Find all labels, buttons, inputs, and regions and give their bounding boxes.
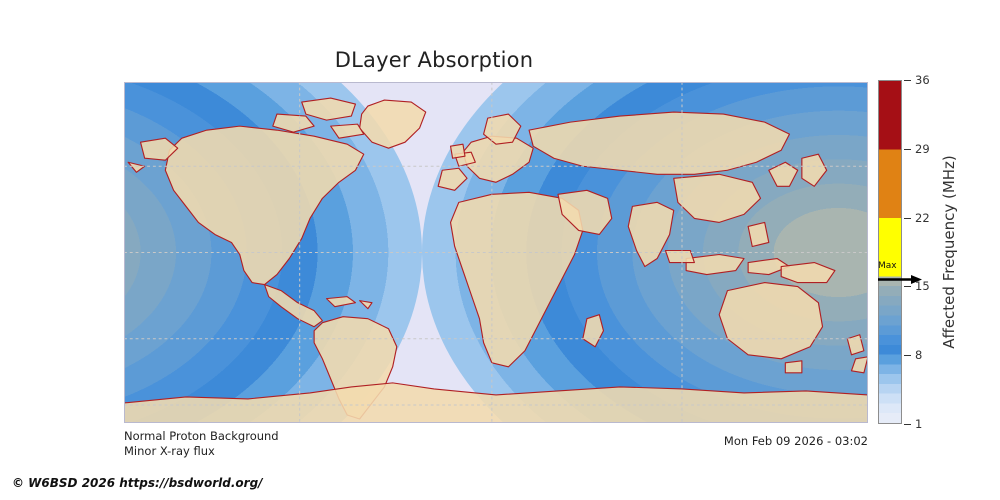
- page-title: DLayer Absorption: [0, 48, 868, 72]
- colorbar-tick-8: 8: [904, 348, 922, 362]
- xray-status-note: Minor X-ray flux: [124, 444, 215, 458]
- world-map-panel[interactable]: [124, 82, 868, 423]
- colorbar[interactable]: 36 29 22 15 8 1 Max: [878, 80, 902, 424]
- timestamp-label: Mon Feb 09 2026 - 03:02: [724, 434, 868, 448]
- colorbar-tick-36: 36: [904, 73, 930, 87]
- colorbar-tick-22: 22: [904, 211, 930, 225]
- max-marker-label: Max: [878, 261, 897, 271]
- colorbar-axis-label: Affected Frequency (MHz): [938, 80, 960, 424]
- arrow-right-icon: [878, 275, 922, 284]
- colorbar-max-marker: Max: [876, 263, 934, 289]
- colorbar-tick-29: 29: [904, 142, 930, 156]
- colorbar-tick-1: 1: [904, 417, 922, 431]
- copyright-footer: © W6BSD 2026 https://bsdworld.org/: [12, 476, 263, 490]
- colorbar-gradient: [878, 80, 902, 424]
- proton-status-note: Normal Proton Background: [124, 429, 279, 443]
- coastline-layer: [124, 82, 868, 423]
